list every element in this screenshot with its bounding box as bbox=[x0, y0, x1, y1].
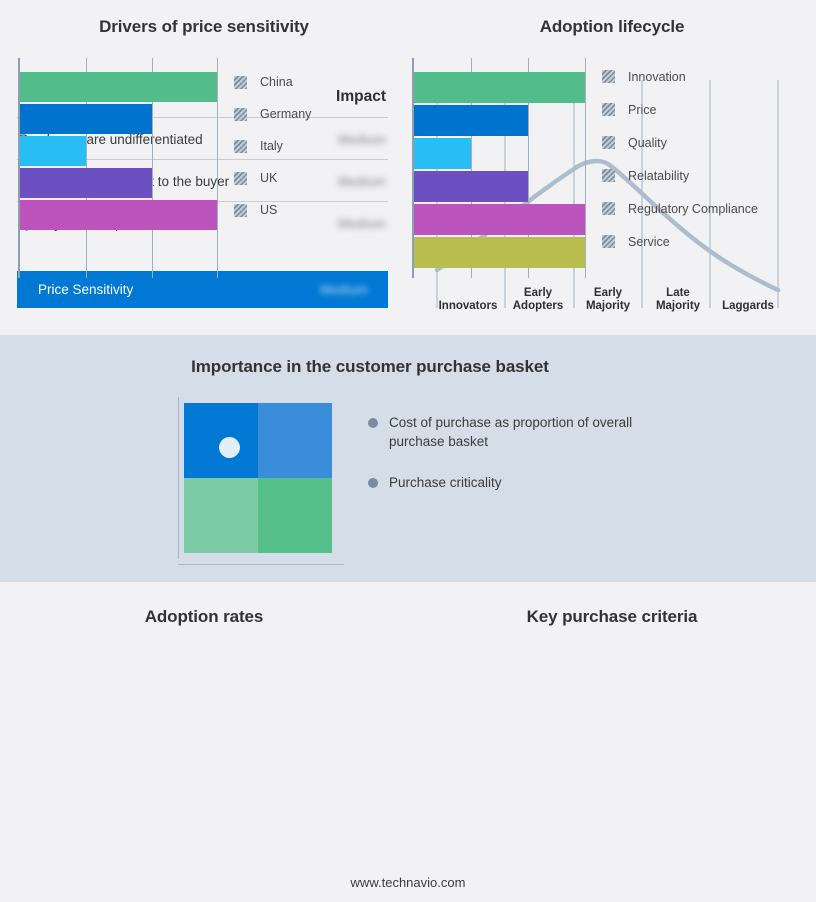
bar-row bbox=[414, 204, 591, 235]
segment-label-line1: Early bbox=[503, 287, 573, 300]
bar-relatability bbox=[414, 171, 528, 202]
bar-row bbox=[414, 237, 591, 268]
hatch-swatch-icon bbox=[234, 76, 247, 89]
adoption-rates-panel: Adoption rates bbox=[0, 582, 408, 902]
legend-item: Germany bbox=[234, 98, 311, 130]
legend-label: Germany bbox=[260, 107, 311, 121]
bar-italy bbox=[20, 136, 86, 166]
criteria-plot-area bbox=[412, 58, 591, 278]
legend-item: Relatability bbox=[602, 159, 758, 192]
legend-item: Quality bbox=[602, 126, 758, 159]
criteria-legend: InnovationPriceQualityRelatabilityRegula… bbox=[602, 60, 758, 258]
adoption-panel-title: Adoption rates bbox=[0, 607, 408, 627]
bar-regulatory-compliance bbox=[414, 204, 585, 235]
summary-impact-value: Medium bbox=[320, 282, 368, 297]
criteria-bars bbox=[414, 72, 591, 270]
bar-uk bbox=[20, 168, 152, 198]
impact-value: Medium bbox=[338, 174, 386, 189]
drivers-panel-title: Drivers of price sensitivity bbox=[0, 17, 408, 37]
hatch-swatch-icon bbox=[602, 202, 615, 215]
quadrant-grid bbox=[184, 403, 332, 553]
legend-item: Innovation bbox=[602, 60, 758, 93]
legend-label: Quality bbox=[628, 136, 667, 150]
segment-label-line1: Early bbox=[573, 287, 643, 300]
legend-label: Innovation bbox=[628, 70, 686, 84]
legend-label: Purchase criticality bbox=[389, 473, 502, 492]
bar-row bbox=[414, 105, 591, 136]
legend-item: Purchase criticality bbox=[368, 473, 668, 492]
criteria-panel-title: Key purchase criteria bbox=[408, 607, 816, 627]
legend-label: Relatability bbox=[628, 169, 689, 183]
legend-item: Cost of purchase as proportion of overal… bbox=[368, 413, 668, 451]
bar-row bbox=[20, 200, 224, 230]
quadrant-chart bbox=[178, 397, 344, 565]
legend-item: Regulatory Compliance bbox=[602, 192, 758, 225]
lifecycle-segment-innovators: Innovators bbox=[433, 275, 503, 315]
bar-row bbox=[414, 138, 591, 169]
legend-label: Cost of purchase as proportion of overal… bbox=[389, 413, 651, 451]
key-purchase-criteria-panel: Key purchase criteria bbox=[408, 582, 816, 902]
adoption-rates-chart bbox=[18, 58, 222, 278]
lifecycle-segment-early-majority: Early Majority bbox=[573, 275, 643, 315]
lifecycle-segment-labels: Innovators Early Adopters Early Majority… bbox=[433, 275, 783, 315]
bar-row bbox=[20, 72, 224, 102]
lifecycle-panel-title: Adoption lifecycle bbox=[408, 17, 816, 37]
quadrant-cell-bottom-left bbox=[184, 478, 258, 553]
legend-item: UK bbox=[234, 162, 311, 194]
legend-label: Regulatory Compliance bbox=[628, 202, 758, 216]
segment-label-line2: Adopters bbox=[503, 300, 573, 313]
legend-item: Service bbox=[602, 225, 758, 258]
legend-label: UK bbox=[260, 171, 277, 185]
legend-item: US bbox=[234, 194, 311, 226]
bar-service bbox=[414, 237, 585, 268]
hatch-swatch-icon bbox=[602, 235, 615, 248]
bar-quality bbox=[414, 138, 471, 169]
legend-label: Service bbox=[628, 235, 670, 249]
basket-panel-title: Importance in the customer purchase bask… bbox=[0, 357, 740, 377]
bar-row bbox=[414, 72, 591, 103]
lifecycle-segment-early-adopters: Early Adopters bbox=[503, 275, 573, 315]
impact-value: Medium bbox=[338, 216, 386, 231]
hatch-swatch-icon bbox=[234, 204, 247, 217]
lifecycle-segment-laggards: Laggards bbox=[713, 275, 783, 315]
quadrant-cell-top-left bbox=[184, 403, 258, 478]
hatch-swatch-icon bbox=[602, 169, 615, 182]
bar-us bbox=[20, 200, 217, 230]
footer-url: www.technavio.com bbox=[0, 875, 816, 890]
legend-label: Italy bbox=[260, 139, 283, 153]
key-criteria-chart bbox=[412, 58, 589, 278]
segment-label: Innovators bbox=[433, 300, 503, 313]
quadrant-cell-bottom-right bbox=[258, 478, 332, 553]
column-header-impact: Impact bbox=[336, 88, 386, 106]
bottom-band: Adoption rates Key purchase criteria bbox=[0, 582, 816, 902]
quadrant-y-axis bbox=[178, 397, 179, 559]
basket-legend: Cost of purchase as proportion of overal… bbox=[368, 413, 668, 514]
adoption-plot-area bbox=[18, 58, 224, 278]
bar-germany bbox=[20, 104, 152, 134]
bar-row bbox=[20, 136, 224, 166]
hatch-swatch-icon bbox=[602, 70, 615, 83]
bar-row bbox=[20, 168, 224, 198]
hatch-swatch-icon bbox=[234, 172, 247, 185]
quadrant-x-axis bbox=[178, 564, 344, 565]
hatch-swatch-icon bbox=[602, 103, 615, 116]
bar-row bbox=[20, 104, 224, 134]
legend-label: Price bbox=[628, 103, 656, 117]
hatch-swatch-icon bbox=[602, 136, 615, 149]
legend-label: US bbox=[260, 203, 277, 217]
purchase-basket-band: Importance in the customer purchase bask… bbox=[0, 335, 816, 582]
segment-label-line2: Majority bbox=[573, 300, 643, 313]
legend-item: Price bbox=[602, 93, 758, 126]
adoption-legend: ChinaGermanyItalyUKUS bbox=[234, 66, 311, 226]
bar-price bbox=[414, 105, 528, 136]
legend-label: China bbox=[260, 75, 293, 89]
lifecycle-segment-late-majority: Late Majority bbox=[643, 275, 713, 315]
segment-label: Laggards bbox=[713, 300, 783, 313]
quadrant-cell-top-right bbox=[258, 403, 332, 478]
bar-row bbox=[414, 171, 591, 202]
legend-item: China bbox=[234, 66, 311, 98]
bullet-icon bbox=[368, 478, 378, 488]
summary-driver-label: Price Sensitivity bbox=[38, 282, 133, 297]
bullet-icon bbox=[368, 418, 378, 428]
bar-china bbox=[20, 72, 217, 102]
hatch-swatch-icon bbox=[234, 108, 247, 121]
impact-value: Medium bbox=[338, 132, 386, 147]
bar-innovation bbox=[414, 72, 585, 103]
segment-label-line1: Late bbox=[643, 287, 713, 300]
legend-item: Italy bbox=[234, 130, 311, 162]
adoption-bars bbox=[20, 72, 224, 232]
segment-label-line2: Majority bbox=[643, 300, 713, 313]
hatch-swatch-icon bbox=[234, 140, 247, 153]
quadrant-marker-dot bbox=[219, 437, 240, 458]
